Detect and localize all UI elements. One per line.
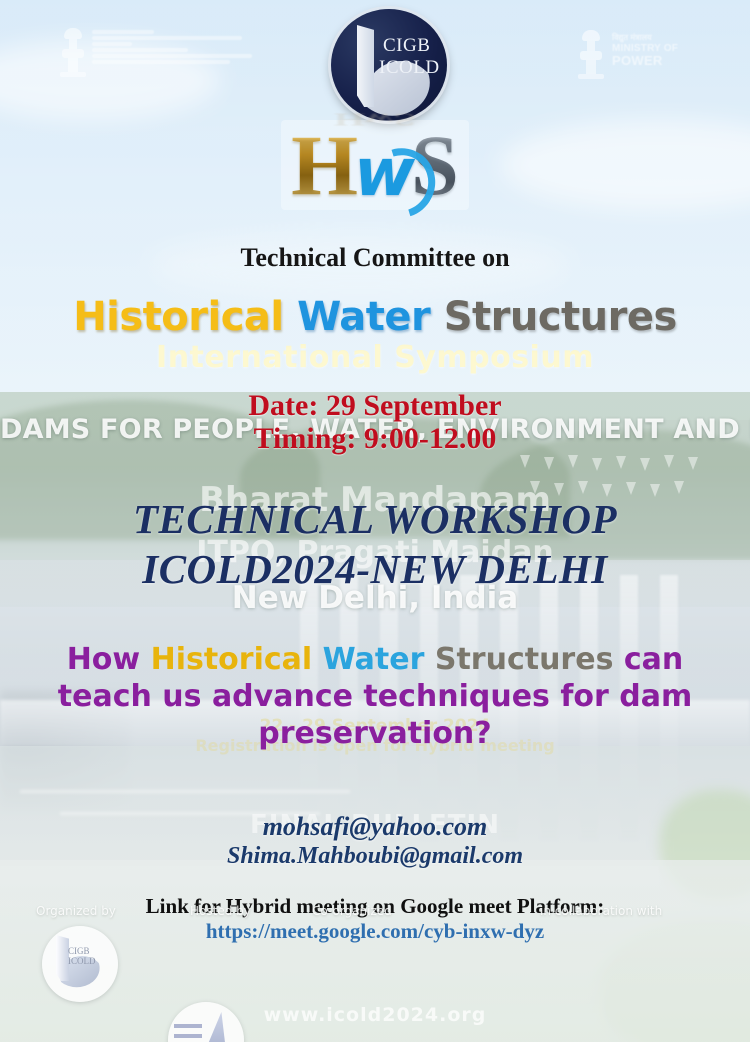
poster-canvas: International Symposium DAMS FOR PEOPLE,… xyxy=(0,0,750,1042)
badge-cigb-label: CIGB xyxy=(383,35,430,57)
question-word-structures: Structures xyxy=(435,642,614,677)
question-word-historical: Historical xyxy=(151,642,313,677)
logo-stripe xyxy=(174,1034,202,1038)
workshop-title-line2: ICOLD2024-NEW DELHI xyxy=(0,545,750,593)
ashoka-pillar-icon xyxy=(60,28,86,78)
contact-email-2[interactable]: Shima.Mahboubi@gmail.com xyxy=(0,843,750,870)
question-space xyxy=(424,642,434,677)
hws-logo: HwS xyxy=(0,120,750,228)
ministry-hindi-label: विद्युत मंत्रालय xyxy=(612,34,678,43)
organized-by-label: Organized by xyxy=(36,904,116,918)
question-word-water: Water xyxy=(323,642,425,677)
ministry-line2-label: POWER xyxy=(612,54,678,69)
workshop-question: How Historical Water Structures can teac… xyxy=(34,641,716,752)
hws-logo-reflection: HwS xyxy=(0,109,750,130)
ashoka-pillar-icon xyxy=(578,30,604,80)
logo-cigb-icold-label: CIGBICOLD xyxy=(68,946,96,966)
page-title: Historical Water Structures xyxy=(0,294,750,340)
committee-line: Technical Committee on xyxy=(0,243,750,273)
google-meet-link[interactable]: https://meet.google.com/cyb-inxw-dyz xyxy=(0,919,750,944)
cigb-icold-badge-icon: CIGB ICOLD xyxy=(331,9,447,121)
government-of-india-emblem xyxy=(60,28,275,90)
collaboration-label: in collaboration with xyxy=(540,904,662,918)
workshop-title-line1: TECHNICAL WORKSHOP xyxy=(0,495,750,543)
ministry-of-power-emblem: विद्युत मंत्रालय MINISTRY OF POWER xyxy=(578,30,728,94)
hws-letter-h: H xyxy=(291,122,358,208)
title-word-historical: Historical xyxy=(73,294,283,340)
dam-shape-icon xyxy=(198,1012,228,1042)
emblem-left-textblock xyxy=(92,28,252,64)
hosted-by-label: Hosted by xyxy=(190,904,251,918)
co-organized-label: Co-organized xyxy=(312,904,392,918)
logo-stripe xyxy=(174,1024,202,1028)
question-part1: How xyxy=(67,642,151,677)
badge-icold-label: ICOLD xyxy=(379,57,440,79)
event-timing: Timing: 9:00-12.00 xyxy=(0,422,750,456)
cigb-icold-footer-logo: CIGBICOLD xyxy=(42,926,118,1002)
contact-email-1[interactable]: mohsafi@yahoo.com xyxy=(0,812,750,842)
badge-dam-silhouette-icon xyxy=(357,25,374,107)
question-space xyxy=(312,642,322,677)
title-word-water: Water xyxy=(297,294,430,340)
event-date: Date: 29 September xyxy=(0,389,750,423)
title-word-structures: Structures xyxy=(444,294,677,340)
